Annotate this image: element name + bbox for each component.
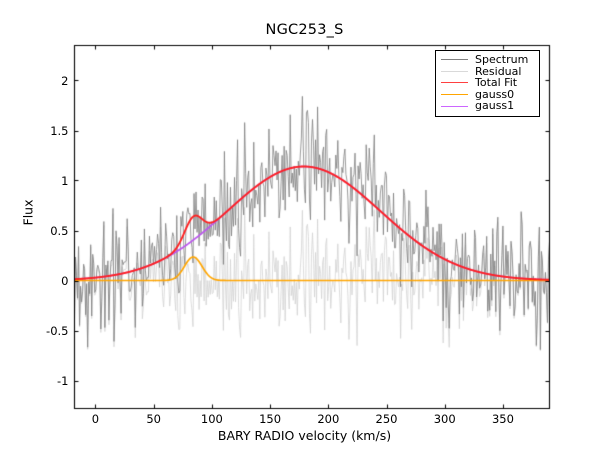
x-tick-label: 150 [259, 412, 281, 426]
y-tick-label: -0.5 [35, 324, 69, 338]
y-tick-label: 0 [35, 274, 69, 288]
y-tick-label: -1 [35, 374, 69, 388]
legend-label: gauss1 [475, 100, 514, 112]
x-tick-label: 250 [376, 412, 398, 426]
legend-item-gauss1: gauss1 [441, 100, 534, 112]
x-tick-label: 100 [201, 412, 223, 426]
x-tick-label: 50 [146, 412, 161, 426]
y-tick-label: 1 [35, 174, 69, 188]
legend-label: Spectrum [475, 54, 528, 66]
legend-swatch-icon [441, 59, 468, 60]
y-axis-label: Flux [21, 173, 36, 253]
figure-canvas: NGC253_S BARY RADIO velocity (km/s) Flux… [0, 0, 609, 459]
x-tick-label: 200 [317, 412, 339, 426]
y-tick-label: 0.5 [35, 224, 69, 238]
legend-swatch-icon [441, 106, 468, 107]
legend-item-spectrum: Spectrum [441, 54, 534, 66]
chart-legend: SpectrumResidualTotal Fitgauss0gauss1 [435, 50, 540, 117]
x-tick-label: 0 [92, 412, 99, 426]
y-tick-label: 1.5 [35, 124, 69, 138]
y-tick-label: 2 [35, 74, 69, 88]
x-tick-label: 350 [492, 412, 514, 426]
legend-swatch-icon [441, 82, 468, 83]
legend-swatch-icon [441, 71, 468, 72]
x-tick-label: 300 [434, 412, 456, 426]
legend-swatch-icon [441, 94, 468, 95]
x-axis-label: BARY RADIO velocity (km/s) [0, 428, 609, 443]
page-title: NGC253_S [0, 22, 609, 38]
